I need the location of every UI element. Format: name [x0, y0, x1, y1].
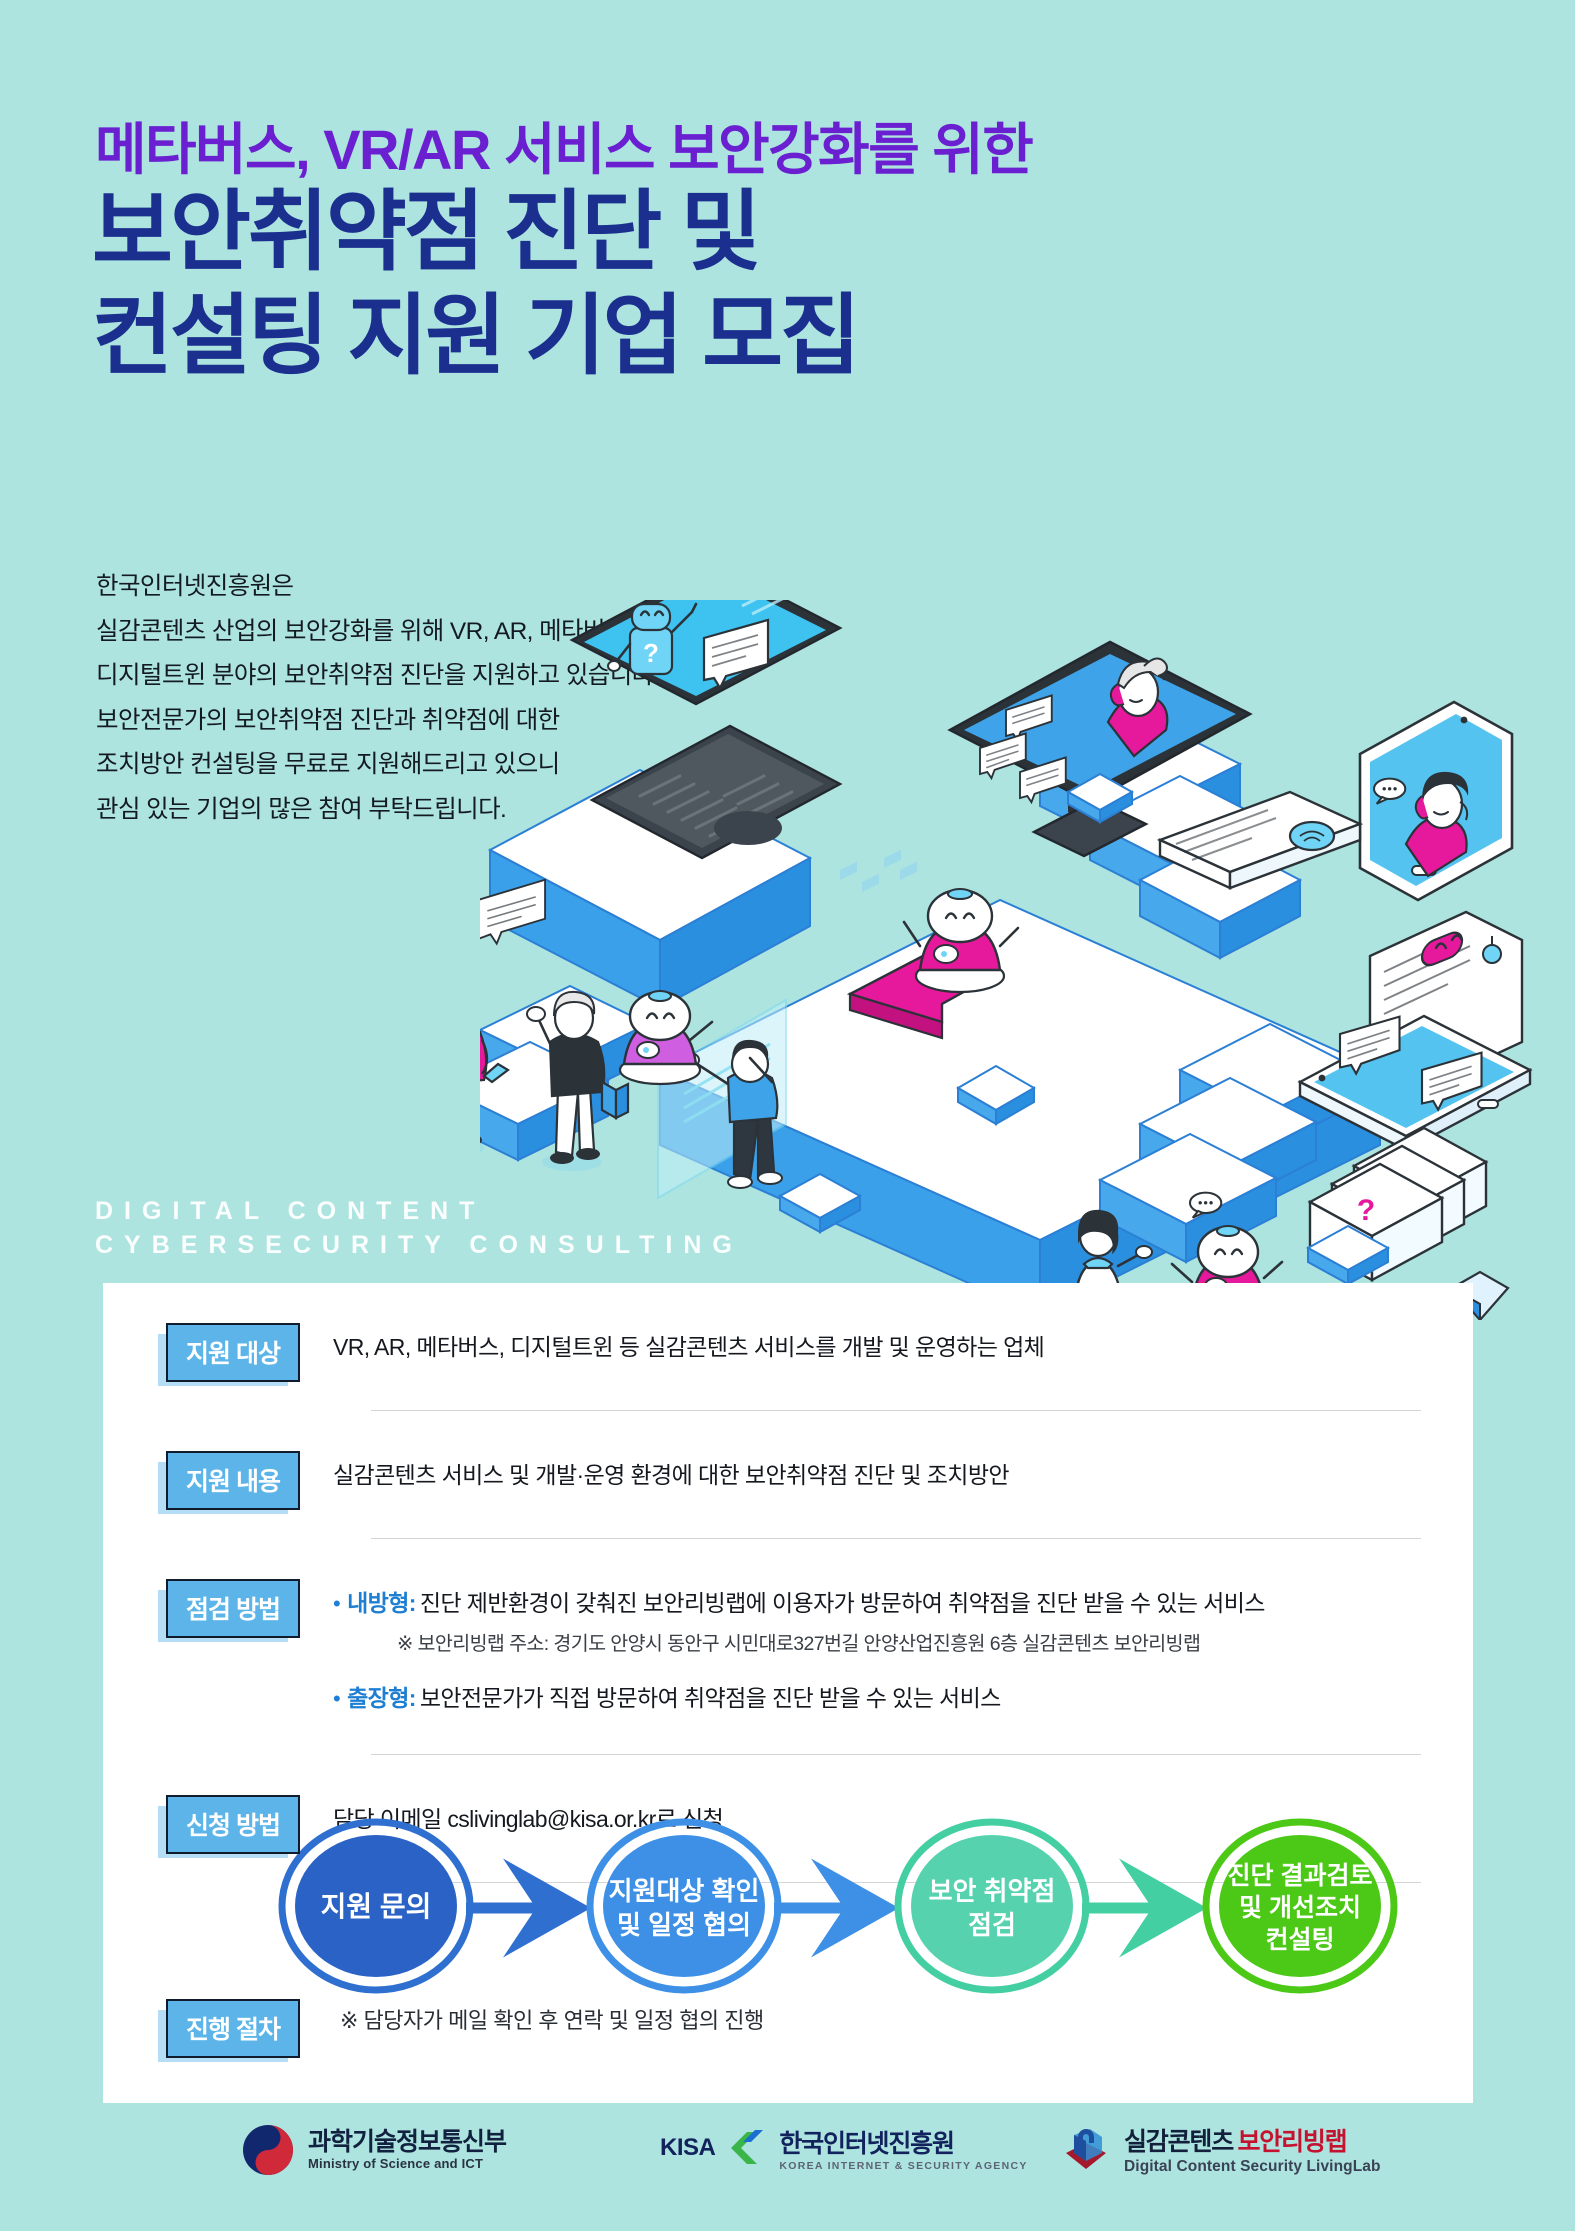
row-divider [371, 1754, 1421, 1755]
svg-text:?: ? [643, 638, 659, 668]
bullet-text: 진단 제반환경이 갖춰진 보안리빙랩에 이용자가 방문하여 취약점을 진단 받을… [420, 1590, 1265, 1616]
flow-step-1-label: 지원 문의 [321, 1891, 432, 1922]
flow-step-2: 지원대상 확인 및 일정 협의 [590, 1822, 778, 1990]
row-text-content: 실감콘텐츠 서비스 및 개발·운영 환경에 대한 보안취약점 진단 및 조치방안 [333, 1451, 1473, 1494]
logo-kisa-kr: 한국인터넷진흥원 [779, 2124, 1027, 2160]
lock-cube-icon [1060, 2123, 1112, 2175]
info-row-process: 진행 절차 [103, 1999, 1473, 2058]
bullet-dot-icon: • [333, 1688, 340, 1710]
row-label-apply: 신청 방법 [166, 1795, 300, 1854]
logo-msit-en: Ministry of Science and ICT [308, 2156, 506, 2171]
kisa-chevron-icon [727, 2128, 767, 2168]
flow-step-3-line-2: 점검 [968, 1910, 1016, 1940]
title-line-1: 보안취약점 진단 및 [92, 180, 858, 284]
logo-kisa-mark: KISA [660, 2134, 715, 2162]
row-label-target: 지원 대상 [166, 1323, 300, 1382]
poster-root: 메타버스, VR/AR 서비스 보안강화를 위한 보안취약점 진단 및 컨설팅 … [0, 0, 1575, 2231]
flow-step-2-line-1: 지원대상 확인 [609, 1876, 760, 1906]
taegeuk-icon [240, 2122, 296, 2178]
info-row-target: 지원 대상 VR, AR, 메타버스, 디지털트윈 등 실감콘텐츠 서비스를 개… [103, 1323, 1473, 1382]
poster-kicker: 메타버스, VR/AR 서비스 보안강화를 위한 [95, 105, 1032, 186]
bullet-key: 내방형: [347, 1590, 416, 1616]
flow-step-4-line-1: 진단 결과검토 [1228, 1862, 1373, 1890]
row-divider [371, 1410, 1421, 1411]
logo-ll-en: Digital Content Security LivingLab [1124, 2158, 1381, 2176]
flow-step-2-line-2: 및 일정 협의 [617, 1910, 751, 1940]
row-text-target: VR, AR, 메타버스, 디지털트윈 등 실감콘텐츠 서비스를 개발 및 운영… [333, 1323, 1473, 1366]
logo-ll-kr2: 보안리빙랩 [1237, 2128, 1346, 2156]
watermark-line-2: CYBERSECURITY CONSULTING [95, 1229, 743, 1263]
row-divider [371, 1538, 1421, 1539]
method-note: ※ 보안리빙랩 주소: 경기도 안양시 동안구 시민대로327번길 안양산업진흥… [397, 1629, 1473, 1659]
logo-ll-kr1: 실감콘텐츠 [1124, 2128, 1233, 2156]
page-title: 보안취약점 진단 및 컨설팅 지원 기업 모집 [92, 180, 858, 388]
logo-msit-kr: 과학기술정보통신부 [308, 2129, 506, 2157]
flow-step-3: 보안 취약점 점검 [898, 1822, 1086, 1990]
info-row-content: 지원 내용 실감콘텐츠 서비스 및 개발·운영 환경에 대한 보안취약점 진단 … [103, 1451, 1473, 1510]
badge-wrap: 지원 대상 [103, 1323, 333, 1382]
flow-step-4-line-3: 컨설팅 [1265, 1926, 1334, 1954]
info-row-method: 점검 방법 • 내방형:진단 제반환경이 갖춰진 보안리빙랩에 이용자가 방문하… [103, 1579, 1473, 1717]
badge-wrap: 진행 절차 [103, 1999, 333, 2058]
badge-wrap: 점검 방법 [103, 1579, 333, 1638]
row-label-content: 지원 내용 [166, 1451, 300, 1510]
badge-wrap: 신청 방법 [103, 1795, 333, 1854]
svg-text:?: ? [1357, 1194, 1375, 1227]
flow-step-4: 진단 결과검토 및 개선조치 컨설팅 [1206, 1822, 1394, 1990]
method-bullet-1: • 내방형:진단 제반환경이 갖춰진 보안리빙랩에 이용자가 방문하여 취약점을… [333, 1586, 1473, 1622]
watermark-line-1: DIGITAL CONTENT [95, 1195, 743, 1229]
flow-note: ※ 담당자가 메일 확인 후 연락 및 일정 협의 진행 [340, 2003, 764, 2035]
logo-kisa: KISA 한국인터넷진흥원 KOREA INTERNET & SECURITY … [660, 2124, 1028, 2172]
logo-livinglab: 실감콘텐츠 보안리빙랩 Digital Content Security Liv… [1060, 2122, 1381, 2176]
title-line-2: 컨설팅 지원 기업 모집 [92, 284, 858, 388]
method-bullet-2: • 출장형:보안전문가가 직접 방문하여 취약점을 진단 받을 수 있는 서비스 [333, 1681, 1473, 1717]
flow-step-3-line-1: 보안 취약점 [929, 1876, 1056, 1906]
logo-msit: 과학기술정보통신부 Ministry of Science and ICT [240, 2122, 506, 2178]
bullet-text: 보안전문가가 직접 방문하여 취약점을 진단 받을 수 있는 서비스 [420, 1685, 1001, 1711]
bullet-key: 출장형: [347, 1685, 416, 1711]
badge-wrap: 지원 내용 [103, 1451, 333, 1510]
row-text-method: • 내방형:진단 제반환경이 갖춰진 보안리빙랩에 이용자가 방문하여 취약점을… [333, 1579, 1473, 1717]
process-flow-diagram: 지원 문의 지원대상 확인 및 일정 협의 보안 취약점 점검 진단 결과검토 [268, 1820, 1428, 1995]
bullet-dot-icon: • [333, 1593, 340, 1615]
logo-kisa-en: KOREA INTERNET & SECURITY AGENCY [779, 2160, 1027, 2172]
flow-step-4-line-2: 및 개선조치 [1239, 1894, 1361, 1922]
row-label-method: 점검 방법 [166, 1579, 300, 1638]
flow-step-1: 지원 문의 [282, 1822, 470, 1990]
row-label-process: 진행 절차 [166, 1999, 300, 2058]
watermark-text: DIGITAL CONTENT CYBERSECURITY CONSULTING [95, 1195, 743, 1263]
